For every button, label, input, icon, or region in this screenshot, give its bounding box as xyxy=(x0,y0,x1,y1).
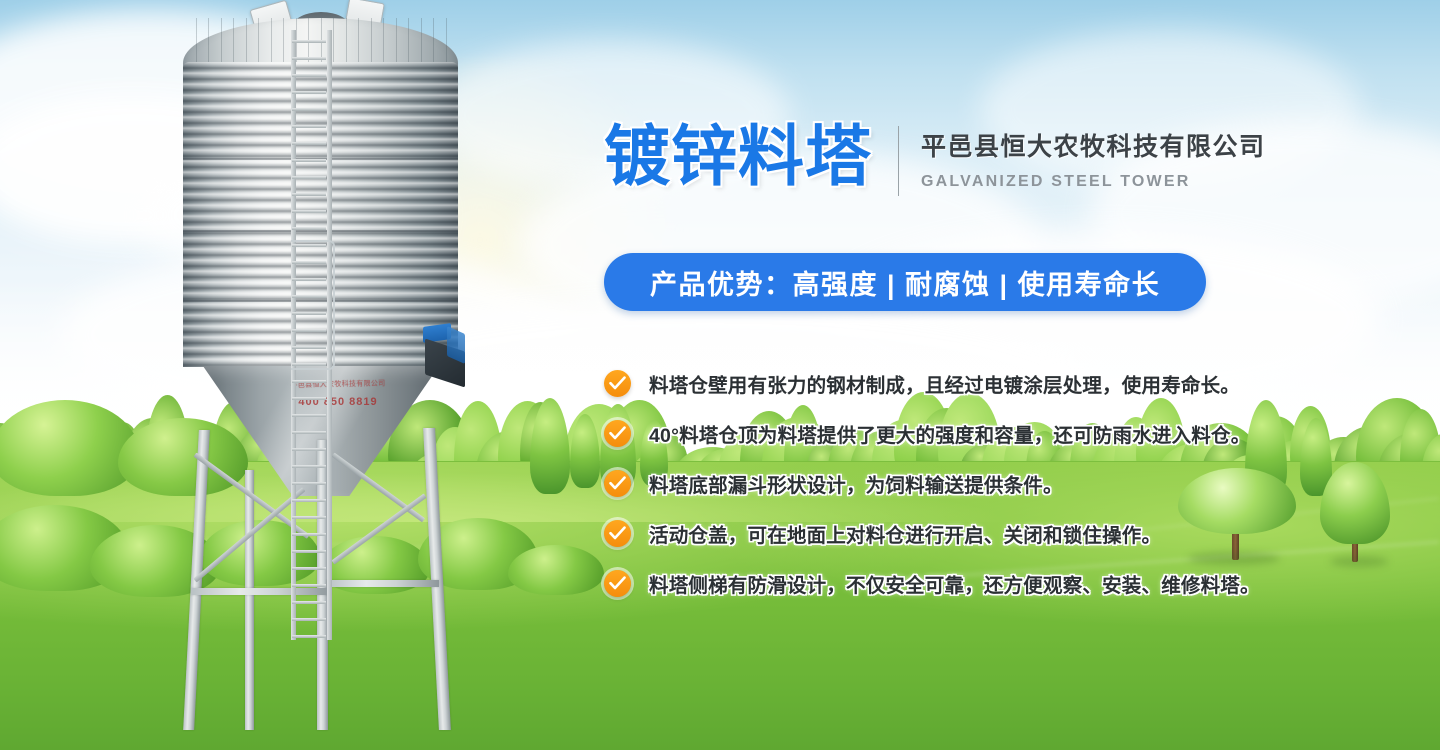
silo-cross-brace xyxy=(332,493,427,564)
feature-text: 料塔侧梯有防滑设计，不仅安全可靠，还方便观察、安装、维修料塔。 xyxy=(649,569,1260,598)
page-title: 镀锌料塔 xyxy=(604,118,872,194)
banner-text-panel: 镀锌料塔 平邑县恒大农牧科技有限公司 GALVANIZED STEEL TOWE… xyxy=(604,0,1304,750)
feature-item: 料塔侧梯有防滑设计，不仅安全可靠，还方便观察、安装、维修料塔。 xyxy=(604,558,1304,608)
check-icon xyxy=(604,420,631,447)
tree-shadow xyxy=(1330,556,1388,567)
feature-text: 40°料塔仓顶为料塔提供了更大的强度和容量，还可防雨水进入料仓。 xyxy=(649,419,1250,448)
check-icon xyxy=(604,570,631,597)
hero-banner: 平邑县恒大农牧科技有限公司 400 850 8819 镀锌料塔 平邑县恒大农牧科… xyxy=(0,0,1440,750)
ladder-safety-cage xyxy=(291,240,335,370)
silo-leg-rear xyxy=(245,470,254,730)
feature-item: 活动仓盖，可在地面上对料仓进行开启、关闭和锁住操作。 xyxy=(604,508,1304,558)
silo-seam xyxy=(183,230,458,232)
product-advantages-text: 产品优势：高强度 | 耐腐蚀 | 使用寿命长 xyxy=(650,263,1160,302)
foreground-tree xyxy=(1320,462,1390,562)
feature-item: 料塔仓壁用有张力的钢材制成，且经过电镀涂层处理，使用寿命长。 xyxy=(604,358,1304,408)
silo-brace xyxy=(327,580,439,587)
feature-list: 料塔仓壁用有张力的钢材制成，且经过电镀涂层处理，使用寿命长。40°料塔仓顶为料塔… xyxy=(604,358,1304,608)
check-icon xyxy=(604,520,631,547)
feature-item: 40°料塔仓顶为料塔提供了更大的强度和容量，还可防雨水进入料仓。 xyxy=(604,408,1304,458)
silo-brace xyxy=(191,588,331,595)
title-row: 镀锌料塔 平邑县恒大农牧科技有限公司 GALVANIZED STEEL TOWE… xyxy=(604,118,1266,196)
feature-item: 料塔底部漏斗形状设计，为饲料输送提供条件。 xyxy=(604,458,1304,508)
company-name-en: GALVANIZED STEEL TOWER xyxy=(921,173,1266,191)
feature-text: 活动仓盖，可在地面上对料仓进行开启、关闭和锁住操作。 xyxy=(649,519,1161,548)
company-block: 平邑县恒大农牧科技有限公司 GALVANIZED STEEL TOWER xyxy=(921,118,1266,191)
product-advantages-pill: 产品优势：高强度 | 耐腐蚀 | 使用寿命长 xyxy=(604,253,1206,311)
product-image-silo: 平邑县恒大农牧科技有限公司 400 850 8819 xyxy=(95,0,515,750)
check-icon xyxy=(604,370,631,397)
feature-text: 料塔仓壁用有张力的钢材制成，且经过电镀涂层处理，使用寿命长。 xyxy=(649,369,1240,398)
company-name: 平邑县恒大农牧科技有限公司 xyxy=(921,130,1266,164)
foreground-shrub xyxy=(508,545,604,595)
feature-text: 料塔底部漏斗形状设计，为饲料输送提供条件。 xyxy=(649,469,1063,498)
check-icon xyxy=(604,470,631,497)
title-divider xyxy=(898,126,899,196)
tree-crown xyxy=(1320,462,1390,544)
silo-leg xyxy=(423,428,451,730)
